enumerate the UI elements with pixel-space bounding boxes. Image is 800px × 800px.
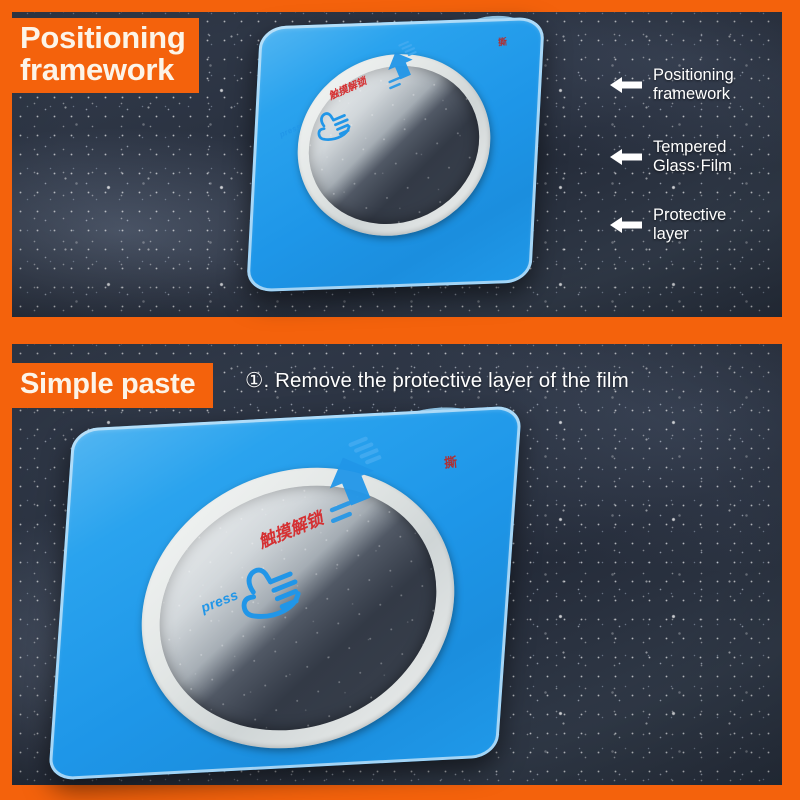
- step-one-instruction: ①. Remove the protective layer of the fi…: [245, 368, 629, 393]
- press-label-top: press: [278, 122, 303, 140]
- callout-label-tempered-glass-film: Tempered Glass·Film: [653, 138, 732, 177]
- up-arrow-fingerprint-icon: [358, 39, 431, 108]
- callout-positioning-framework: Positioning framework: [608, 66, 734, 105]
- film-printed-artwork-top: 触摸解锁 press: [253, 22, 538, 287]
- arrow-left-icon: [608, 146, 644, 168]
- product-infographic: 撕: [0, 0, 800, 800]
- callout-tempered-glass-film: Tempered Glass·Film: [608, 138, 732, 177]
- callout-label-positioning-framework: Positioning framework: [653, 66, 734, 105]
- product-card-top: 撕: [253, 22, 538, 287]
- product-card-bottom: 撕: [60, 418, 510, 768]
- callout-label-protective-layer: Protective layer: [653, 206, 726, 245]
- film-printed-artwork-bottom: 触摸解锁 press: [60, 418, 510, 768]
- callout-protective-layer: Protective layer: [608, 206, 726, 245]
- heading-simple-paste: Simple paste: [0, 363, 213, 408]
- arrow-left-icon: [608, 214, 644, 236]
- arrow-left-icon: [608, 74, 644, 96]
- heading-positioning-framework: Positioning framework: [0, 18, 199, 93]
